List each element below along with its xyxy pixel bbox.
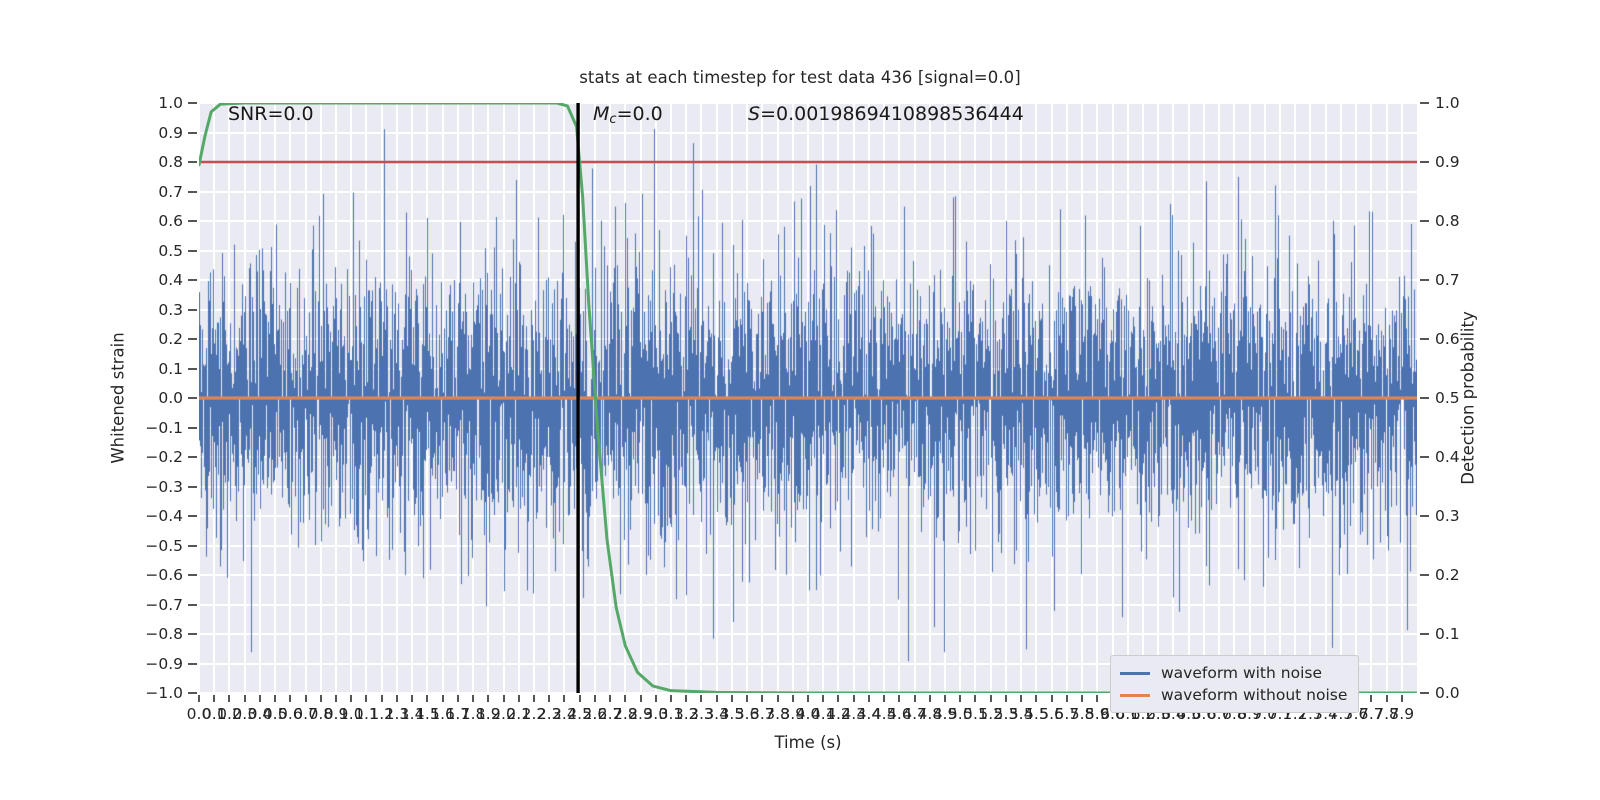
y-tick-label-left: 0.9 [158, 124, 183, 142]
x-tick [1081, 695, 1083, 702]
y-tick-right [1420, 633, 1429, 635]
x-tick [396, 695, 398, 702]
x-tick [487, 695, 489, 702]
y-tick-left [188, 161, 197, 163]
y-tick-left [188, 279, 197, 281]
y-tick-left [188, 397, 197, 399]
x-tick [1401, 695, 1403, 702]
y-tick-label-left: −0.9 [145, 655, 183, 673]
x-tick [1020, 695, 1022, 702]
x-tick [1096, 695, 1098, 702]
x-tick [655, 695, 657, 702]
x-tick [350, 695, 352, 702]
y-tick-left [188, 515, 197, 517]
legend-swatch-blue [1120, 672, 1150, 675]
x-tick [320, 695, 322, 702]
x-tick [853, 695, 855, 702]
y-tick-label-left: −0.3 [145, 478, 183, 496]
y-tick-left [188, 604, 197, 606]
x-tick [518, 695, 520, 702]
x-tick [381, 695, 383, 702]
y-tick-label-right: 0.1 [1435, 625, 1460, 643]
x-tick [1066, 695, 1068, 702]
y-tick-label-left: −0.5 [145, 537, 183, 555]
x-tick [974, 695, 976, 702]
y-tick-right [1420, 220, 1429, 222]
x-tick [457, 695, 459, 702]
x-tick [959, 695, 961, 702]
x-tick [579, 695, 581, 702]
y-tick-label-left: 0.6 [158, 212, 183, 230]
y-tick-label-right: 1.0 [1435, 94, 1460, 112]
legend-label-waveform-without-noise: waveform without noise [1161, 686, 1347, 704]
legend-swatch-orange [1120, 694, 1150, 697]
x-tick [259, 695, 261, 702]
y-tick-label-left: 0.3 [158, 301, 183, 319]
y-tick-label-right: 0.0 [1435, 684, 1460, 702]
y-tick-left [188, 633, 197, 635]
y-tick-left [188, 220, 197, 222]
y-tick-label-left: −0.8 [145, 625, 183, 643]
y-tick-left [188, 191, 197, 193]
y-tick-label-right: 0.4 [1435, 448, 1460, 466]
y-tick-label-right: 0.8 [1435, 212, 1460, 230]
x-tick [198, 695, 200, 702]
legend[interactable]: waveform with noise waveform without noi… [1110, 655, 1359, 713]
y-tick-left [188, 486, 197, 488]
x-tick-label: 7.9 [1389, 705, 1414, 723]
x-axis-label: Time (s) [774, 733, 841, 752]
x-tick [746, 695, 748, 702]
y-tick-left [188, 250, 197, 252]
x-tick [533, 695, 535, 702]
x-tick [898, 695, 900, 702]
x-tick [335, 695, 337, 702]
x-tick [868, 695, 870, 702]
y-tick-left [188, 663, 197, 665]
x-tick [731, 695, 733, 702]
y-tick-left [188, 338, 197, 340]
y-tick-label-right: 0.5 [1435, 389, 1460, 407]
y-tick-label-left: 0.4 [158, 271, 183, 289]
x-tick [624, 695, 626, 702]
x-tick [837, 695, 839, 702]
legend-item-waveform-without-noise[interactable]: waveform without noise [1120, 684, 1347, 706]
y-tick-right [1420, 515, 1429, 517]
x-tick [1051, 695, 1053, 702]
legend-label-waveform-with-noise: waveform with noise [1161, 664, 1322, 682]
x-tick [503, 695, 505, 702]
x-tick [1005, 695, 1007, 702]
y-tick-label-right: 0.3 [1435, 507, 1460, 525]
x-tick [1035, 695, 1037, 702]
y-tick-label-left: −0.2 [145, 448, 183, 466]
x-tick [228, 695, 230, 702]
annotation-s-value: =0.0019869410898536444 [760, 103, 1024, 125]
x-tick [305, 695, 307, 702]
y-tick-left [188, 132, 197, 134]
x-tick [944, 695, 946, 702]
x-tick [244, 695, 246, 702]
y-tick-left [188, 309, 197, 311]
y-tick-label-left: 1.0 [158, 94, 183, 112]
y-tick-right [1420, 456, 1429, 458]
y-tick-right [1420, 279, 1429, 281]
x-tick [929, 695, 931, 702]
y-axis-label-right: Detection probability [1459, 311, 1478, 484]
x-tick [289, 695, 291, 702]
x-tick [822, 695, 824, 702]
x-tick [700, 695, 702, 702]
annotation-s-symbol: S [748, 103, 760, 125]
x-tick [1370, 695, 1372, 702]
x-tick [411, 695, 413, 702]
x-tick [685, 695, 687, 702]
y-tick-label-left: 0.5 [158, 242, 183, 260]
annotation-mc-symbol: M [593, 103, 609, 125]
annotation-score: S=0.0019869410898536444 [748, 103, 1024, 125]
x-tick [594, 695, 596, 702]
plot-axes [199, 103, 1417, 693]
x-tick [609, 695, 611, 702]
y-tick-label-left: −1.0 [145, 684, 183, 702]
figure-root: stats at each timestep for test data 436… [0, 0, 1600, 800]
y-tick-label-right: 0.7 [1435, 271, 1460, 289]
x-tick [365, 695, 367, 702]
x-tick [1386, 695, 1388, 702]
y-tick-label-left: 0.1 [158, 360, 183, 378]
y-tick-label-right: 0.9 [1435, 153, 1460, 171]
y-tick-left [188, 368, 197, 370]
x-tick [640, 695, 642, 702]
y-tick-right [1420, 574, 1429, 576]
y-tick-right [1420, 692, 1429, 694]
y-tick-right [1420, 397, 1429, 399]
annotation-mc-value: =0.0 [617, 103, 663, 125]
y-tick-left [188, 427, 197, 429]
y-tick-label-left: 0.7 [158, 183, 183, 201]
figure-title: stats at each timestep for test data 436… [0, 68, 1600, 87]
y-tick-left [188, 692, 197, 694]
y-tick-right [1420, 102, 1429, 104]
y-tick-label-left: −0.6 [145, 566, 183, 584]
x-tick [563, 695, 565, 702]
y-tick-right [1420, 338, 1429, 340]
x-tick [807, 695, 809, 702]
x-tick [761, 695, 763, 702]
x-tick [213, 695, 215, 702]
y-tick-label-left: −0.4 [145, 507, 183, 525]
y-tick-left [188, 574, 197, 576]
y-tick-left [188, 545, 197, 547]
x-tick [883, 695, 885, 702]
x-tick [716, 695, 718, 702]
y-tick-label-left: 0.0 [158, 389, 183, 407]
annotation-chirp-mass: Mc=0.0 [593, 103, 663, 127]
x-tick [472, 695, 474, 702]
annotation-snr: SNR=0.0 [228, 103, 314, 125]
y-tick-label-right: 0.2 [1435, 566, 1460, 584]
x-tick [426, 695, 428, 702]
y-tick-right [1420, 161, 1429, 163]
y-tick-left [188, 102, 197, 104]
overlay-lines [199, 103, 1417, 693]
x-tick [990, 695, 992, 702]
annotation-mc-subscript: c [609, 112, 616, 127]
y-tick-label-left: −0.7 [145, 596, 183, 614]
x-tick [548, 695, 550, 702]
x-tick [914, 695, 916, 702]
y-tick-label-left: 0.8 [158, 153, 183, 171]
y-axis-label-left: Whitened strain [109, 332, 128, 463]
x-tick [442, 695, 444, 702]
legend-item-waveform-with-noise[interactable]: waveform with noise [1120, 662, 1347, 684]
y-tick-left [188, 456, 197, 458]
y-tick-label-left: −0.1 [145, 419, 183, 437]
y-tick-label-left: 0.2 [158, 330, 183, 348]
x-tick [777, 695, 779, 702]
data-layer [199, 103, 1417, 693]
y-tick-label-right: 0.6 [1435, 330, 1460, 348]
x-tick [274, 695, 276, 702]
x-tick [792, 695, 794, 702]
x-tick [670, 695, 672, 702]
